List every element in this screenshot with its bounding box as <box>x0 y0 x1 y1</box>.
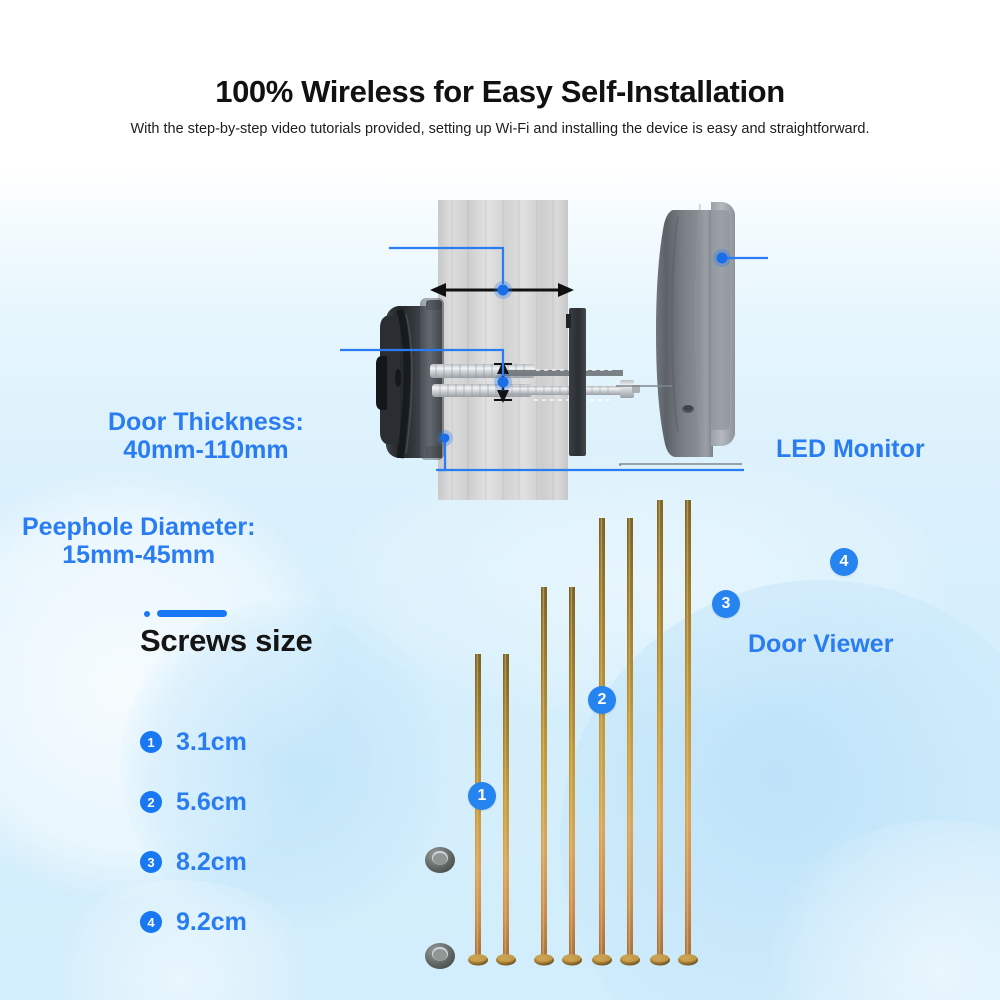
screw-group-4 <box>650 500 698 966</box>
callout-door-thickness-line1: Door Thickness: <box>108 408 304 436</box>
screw-badge-4: 4 <box>830 548 858 576</box>
door-viewer-unit <box>376 298 444 460</box>
washer-top <box>425 847 455 873</box>
mounting-plate <box>566 308 586 456</box>
infographic-page: 100% Wireless for Easy Self-Installation… <box>0 0 1000 1000</box>
page-title: 100% Wireless for Easy Self-Installation <box>0 74 1000 110</box>
screw-group-1 <box>468 654 516 966</box>
screw-group-2 <box>534 587 582 966</box>
page-subtitle: With the step-by-step video tutorials pr… <box>0 121 1000 137</box>
screw-badge-3: 3 <box>712 590 740 618</box>
callout-led-monitor: LED Monitor <box>776 435 925 463</box>
washer-bottom <box>425 943 455 969</box>
callout-door-thickness-line2: 40mm-110mm <box>108 436 304 464</box>
installation-diagram: Door Thickness: 40mm-110mm Peephole Diam… <box>0 180 1000 510</box>
hardware-illustration: 1 2 3 4 <box>0 500 1000 1000</box>
led-monitor-unit <box>656 202 735 457</box>
screw-badge-2: 2 <box>588 686 616 714</box>
callout-door-thickness: Door Thickness: 40mm-110mm <box>108 408 304 464</box>
header: 100% Wireless for Easy Self-Installation… <box>0 74 1000 137</box>
screw-group-3 <box>592 518 640 966</box>
screw-badge-1: 1 <box>468 782 496 810</box>
